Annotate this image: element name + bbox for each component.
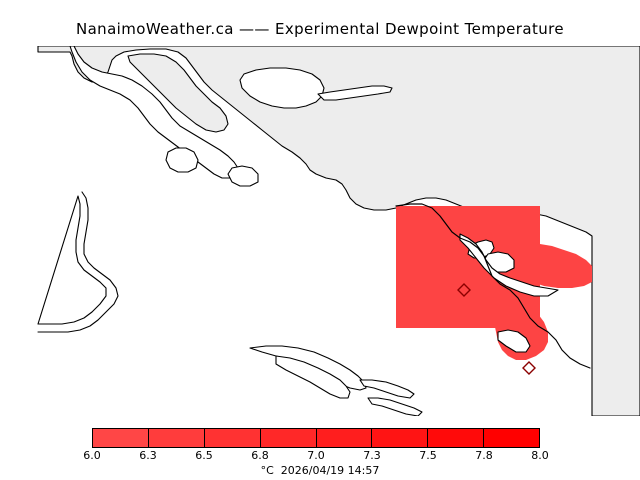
colorbar-gradient[interactable]	[92, 428, 540, 448]
coastal-notch-west	[166, 148, 198, 172]
colorbar-cell-6	[428, 429, 484, 447]
colorbar-cell-4	[317, 429, 373, 447]
colorbar-area: 6.06.36.56.87.07.37.57.88.0 °C 2026/04/1…	[0, 420, 640, 480]
page-title: NanaimoWeather.ca —— Experimental Dewpoi…	[0, 20, 640, 38]
colorbar-tick-1: 6.3	[139, 449, 157, 462]
colorbar-tick-labels: 6.06.36.56.87.07.37.57.88.0	[0, 449, 640, 463]
colorbar-cell-5	[372, 429, 428, 447]
colorbar-tick-3: 6.8	[251, 449, 269, 462]
map-panel	[0, 46, 640, 416]
colorbar-cell-7	[484, 429, 539, 447]
colorbar-cell-1	[149, 429, 205, 447]
colorbar-cell-3	[261, 429, 317, 447]
colorbar-tick-8: 8.0	[531, 449, 549, 462]
colorbar-cell-2	[205, 429, 261, 447]
colorbar-tick-2: 6.5	[195, 449, 213, 462]
colorbar-caption: °C 2026/04/19 14:57	[0, 464, 640, 477]
colorbar-tick-4: 7.0	[307, 449, 325, 462]
map-canvas	[0, 46, 640, 416]
colorbar-tick-7: 7.8	[475, 449, 493, 462]
colorbar-tick-0: 6.0	[83, 449, 101, 462]
colorbar-tick-5: 7.3	[363, 449, 381, 462]
colorbar-tick-6: 7.5	[419, 449, 437, 462]
colorbar-cell-0	[93, 429, 149, 447]
